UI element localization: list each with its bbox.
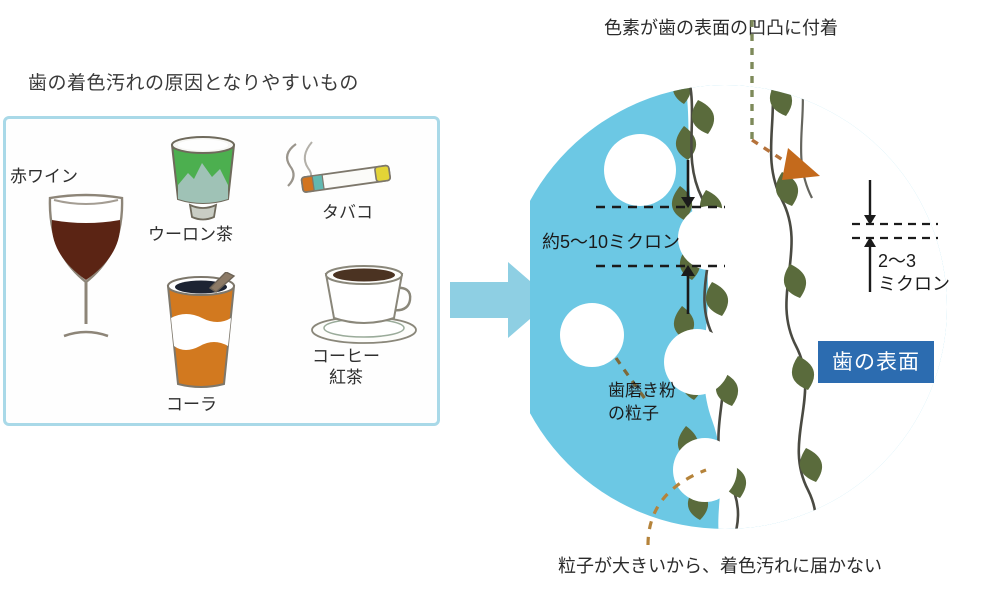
- particle: [678, 206, 742, 270]
- label-red-wine: 赤ワイン: [10, 166, 78, 187]
- coffee-cup-icon: [306, 258, 426, 346]
- diagram-canvas: 歯の着色汚れの原因となりやすいもの 赤ワイン ウーロン茶 タバコ: [0, 0, 1005, 600]
- measure-roughness-line1: 2〜3: [878, 251, 916, 271]
- tea-cup-icon: [160, 133, 246, 225]
- causes-panel: 歯の着色汚れの原因となりやすいもの 赤ワイン ウーロン茶 タバコ: [0, 0, 460, 600]
- label-coffee: コーヒー 紅茶: [312, 346, 380, 389]
- page-title: 歯の着色汚れの原因となりやすいもの: [28, 68, 359, 95]
- measure-roughness-line2: ミクロン: [878, 274, 950, 294]
- wine-glass-icon: [36, 190, 136, 340]
- particle: [604, 134, 676, 206]
- label-coffee-line2: 紅茶: [329, 368, 363, 387]
- label-toothpaste-line1: 歯磨き粉: [608, 381, 676, 400]
- measure-roughness: 2〜3 ミクロン: [878, 250, 950, 297]
- label-toothpaste-line2: の粒子: [608, 404, 659, 423]
- cigarette-icon: [276, 140, 406, 204]
- label-tobacco: タバコ: [322, 202, 373, 223]
- cola-cup-icon: [158, 272, 244, 392]
- label-cola: コーラ: [166, 394, 217, 415]
- tooth-surface-panel: 色素が歯の表面の凹凸に付着 粒子が大きいから、着色汚れに届かない: [530, 0, 1005, 600]
- tooth-surface-badge: 歯の表面: [818, 341, 934, 383]
- label-oolong-tea: ウーロン茶: [148, 224, 233, 245]
- tooth-microstructure-illustration: [530, 0, 1005, 600]
- particle: [560, 303, 624, 367]
- label-coffee-line1: コーヒー: [312, 347, 380, 366]
- label-toothpaste-particles: 歯磨き粉 の粒子: [608, 380, 676, 426]
- measure-particle-size: 約5〜10ミクロン: [542, 228, 680, 254]
